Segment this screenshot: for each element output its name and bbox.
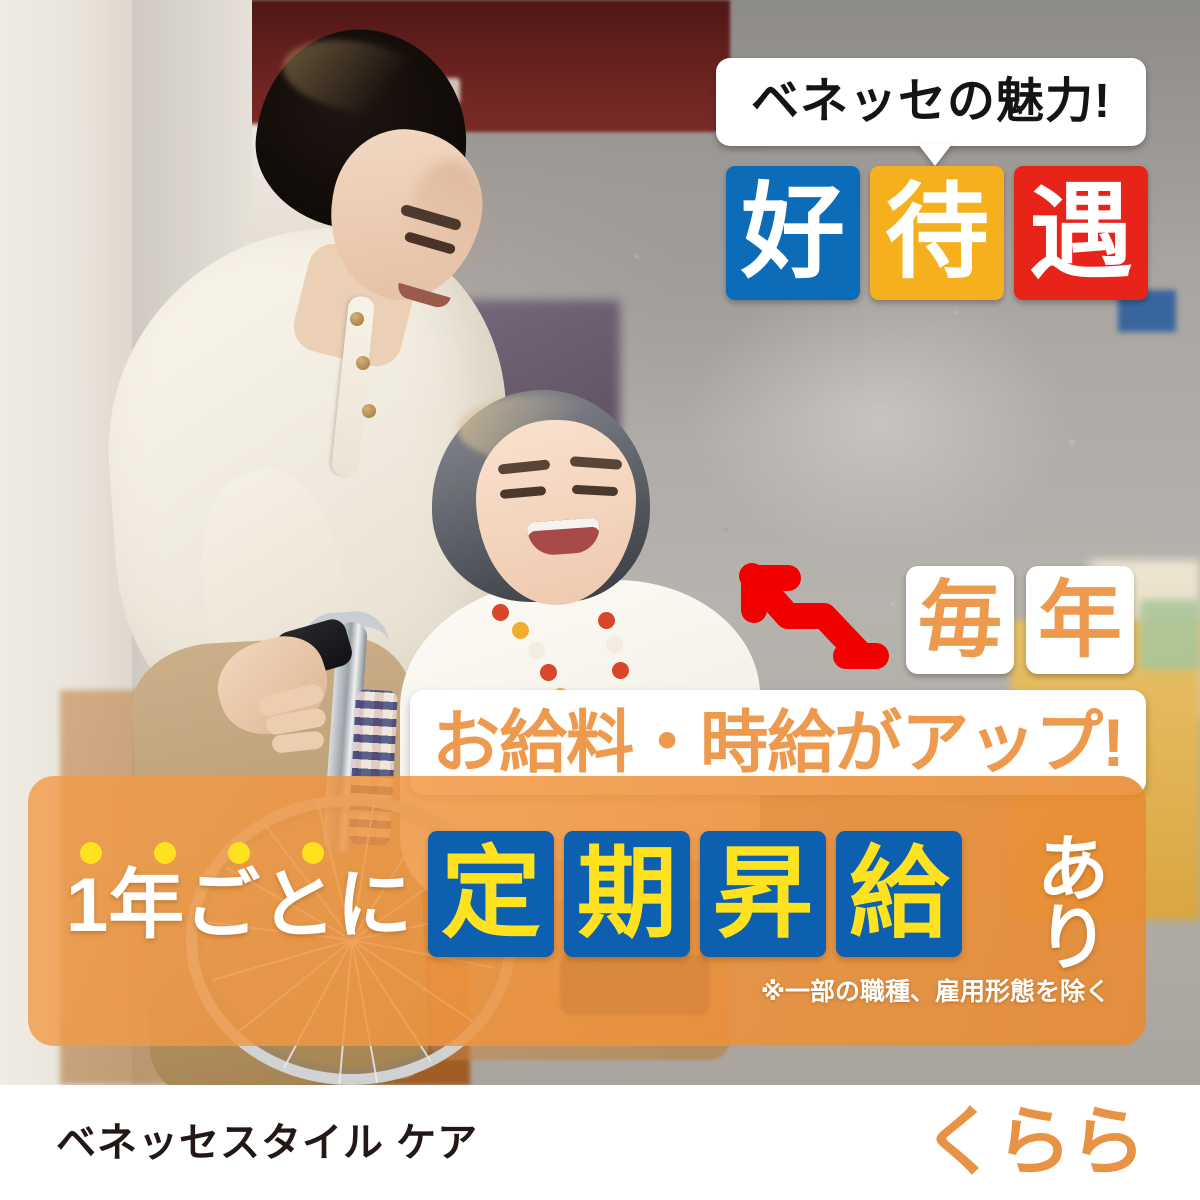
emphasis-dot xyxy=(228,842,250,864)
every-year-label: 1年ごとに xyxy=(66,868,412,944)
tile-kou-char: 好 xyxy=(741,181,845,285)
ari-line-2: り xyxy=(1028,905,1118,974)
tile-ki: 期 xyxy=(564,831,690,957)
teikishoukyuu-tiles: 定 期 昇 給 xyxy=(428,831,962,957)
emphasis-dot xyxy=(80,842,102,864)
tile-kyuu-char: 給 xyxy=(849,844,949,944)
caregiver-face-shadow xyxy=(408,160,492,300)
necklace-bead xyxy=(612,662,629,679)
tile-shou: 昇 xyxy=(700,831,826,957)
tile-kou: 好 xyxy=(726,166,860,300)
necklace-bead xyxy=(512,622,529,639)
poster-root: ベネッセの魅力! 好 待 遇 毎 年 お給料・時給がアップ! 1年ごとに xyxy=(0,0,1200,1200)
tile-kyuu: 給 xyxy=(836,831,962,957)
shirt-button xyxy=(356,356,370,370)
emphasis-dot xyxy=(302,842,324,864)
salary-up-text: お給料・時給がアップ! xyxy=(432,709,1124,777)
tile-tai-char: 待 xyxy=(885,181,989,285)
ari-line-1: あ xyxy=(1028,836,1118,905)
speech-bubble: ベネッセの魅力! xyxy=(716,58,1146,146)
tile-tai: 待 xyxy=(870,166,1004,300)
necklace-bead xyxy=(492,604,509,621)
tile-mai: 毎 xyxy=(906,566,1014,674)
speech-bubble-text: ベネッセの魅力! xyxy=(751,78,1111,126)
shirt-button xyxy=(362,404,376,418)
necklace-bead xyxy=(598,612,615,629)
emphasis-dot xyxy=(154,842,176,864)
company-name: ベネッセスタイル ケア xyxy=(56,1123,478,1163)
necklace-bead xyxy=(528,642,545,659)
tile-shou-char: 昇 xyxy=(713,844,813,944)
tile-nen: 年 xyxy=(1026,566,1134,674)
kotaiguu-tiles: 好 待 遇 xyxy=(726,166,1148,300)
tile-ki-char: 期 xyxy=(577,844,677,944)
tile-tei: 定 xyxy=(428,831,554,957)
necklace-bead xyxy=(540,664,557,681)
disclaimer-note: ※一部の職種、雇用形態を除く xyxy=(0,980,1146,1005)
necklace-bead xyxy=(606,636,623,653)
ari-suffix: あ り xyxy=(1028,836,1118,974)
tile-tei-char: 定 xyxy=(441,844,541,944)
footer-bar: ベネッセスタイル ケア くらら xyxy=(0,1085,1200,1200)
shirt-button xyxy=(350,312,364,326)
mainen-tiles: 毎 年 xyxy=(906,566,1134,674)
emphasis-dots xyxy=(80,842,324,864)
tile-guu: 遇 xyxy=(1014,166,1148,300)
tile-mai-char: 毎 xyxy=(918,578,1002,662)
kurara-logo: くらら xyxy=(922,1105,1144,1181)
tile-nen-char: 年 xyxy=(1038,578,1122,662)
green-accent-object xyxy=(1140,600,1200,670)
tile-guu-char: 遇 xyxy=(1029,181,1133,285)
speech-bubble-tail-icon xyxy=(918,144,952,166)
up-left-zigzag-arrow-icon xyxy=(716,552,896,672)
